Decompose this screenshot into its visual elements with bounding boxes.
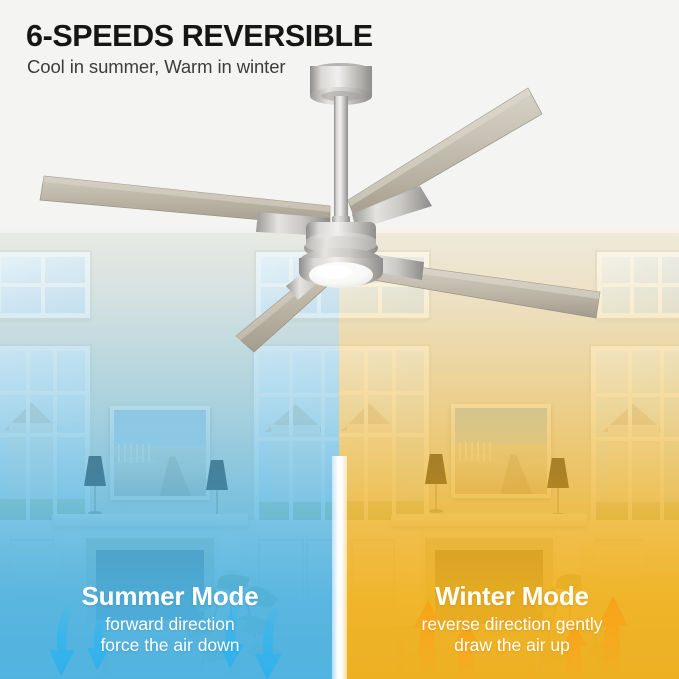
window: [254, 346, 340, 532]
mantel-shelf: [391, 514, 587, 526]
art-fence: [118, 444, 153, 463]
winter-mode-line-1: reverse direction gently: [362, 614, 662, 635]
lamp-stem: [557, 488, 559, 514]
ceiling-line: [0, 228, 340, 233]
window-mullion: [339, 433, 424, 437]
panel-divider: [332, 456, 347, 679]
window-mullion: [392, 351, 396, 525]
summer-mode-title: Summer Mode: [20, 581, 320, 611]
winter-caption: Winter Mode reverse direction gently dra…: [362, 581, 662, 656]
ceiling-line: [339, 228, 679, 233]
window: [0, 346, 90, 528]
product-feature-graphic: 6-SPEEDS REVERSIBLE Cool in summer, Warm…: [0, 0, 679, 679]
window-glass: [339, 257, 424, 313]
framed-wall-art: [110, 406, 210, 500]
window-mullion: [596, 393, 679, 397]
winter-mode-title: Winter Mode: [362, 581, 662, 611]
window-mullion: [596, 437, 679, 441]
window-mullion: [339, 391, 424, 395]
winter-mode-line-2: draw the air up: [362, 635, 662, 656]
summer-mode-line-1: forward direction: [20, 614, 320, 635]
window-mullion: [364, 351, 368, 525]
window-mullion: [261, 283, 340, 287]
art-canvas: [114, 410, 206, 496]
window-glass: [259, 351, 340, 527]
window-mullion: [0, 433, 85, 437]
window-mullion: [26, 351, 30, 523]
window-mullion: [53, 351, 57, 523]
window-mullion: [602, 283, 679, 287]
art-canvas: [455, 408, 547, 494]
window-mullion: [0, 391, 85, 395]
header-band: 6-SPEEDS REVERSIBLE Cool in summer, Warm…: [0, 0, 679, 228]
window-glass: [339, 351, 424, 525]
window-glass: [596, 351, 679, 527]
window-glass: [261, 257, 340, 313]
lamp-stem: [216, 490, 218, 516]
window: [339, 346, 429, 530]
art-fence: [459, 442, 494, 461]
window-glass: [1, 257, 85, 313]
window-glass: [0, 351, 85, 523]
lamp-stem: [435, 484, 437, 510]
mantel-shelf: [52, 514, 248, 526]
framed-wall-art: [451, 404, 551, 498]
lamp-base: [429, 509, 443, 513]
lamp-stem: [94, 486, 96, 512]
window: [256, 252, 340, 318]
window: [339, 252, 429, 318]
window: [597, 252, 679, 318]
window: [591, 346, 679, 532]
window: [0, 252, 90, 318]
window-glass: [602, 257, 679, 313]
summer-caption: Summer Mode forward direction force the …: [20, 581, 320, 656]
window-mullion: [1, 283, 85, 287]
summer-mode-line-2: force the air down: [20, 635, 320, 656]
window-mullion: [259, 437, 340, 441]
page-subtitle: Cool in summer, Warm in winter: [27, 56, 285, 78]
window-mullion: [339, 283, 424, 287]
page-title: 6-SPEEDS REVERSIBLE: [26, 19, 373, 54]
window-mullion: [259, 393, 340, 397]
